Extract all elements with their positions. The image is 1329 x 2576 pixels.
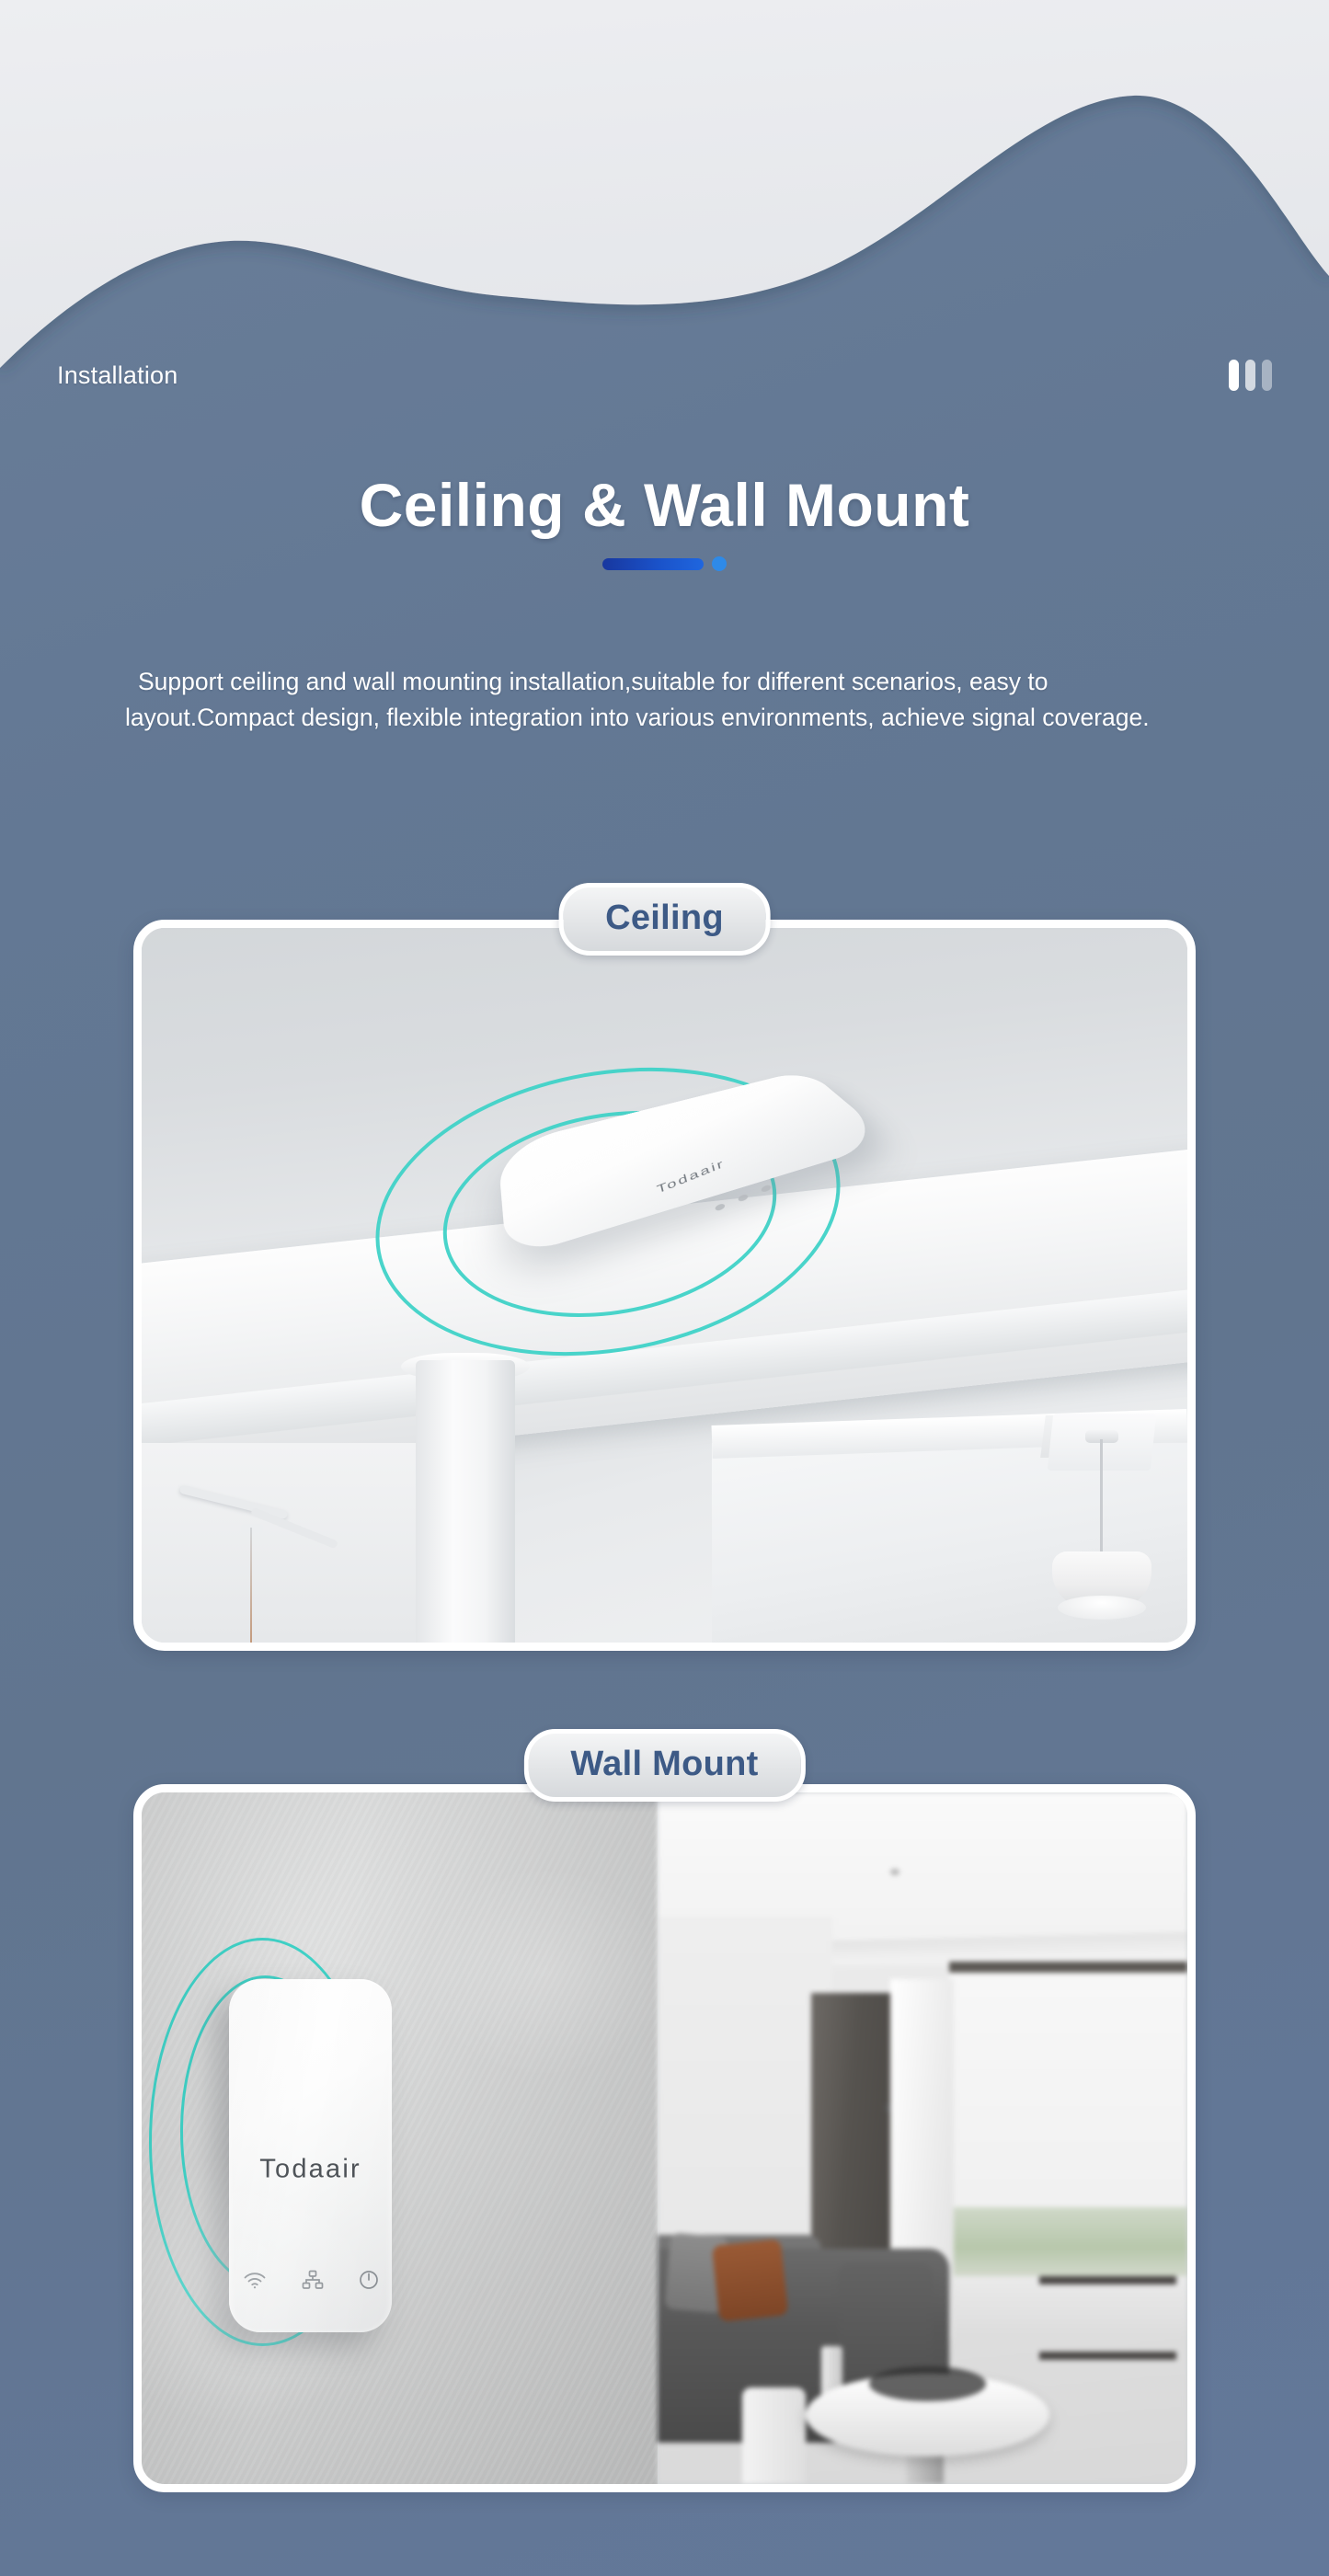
title-divider (597, 557, 733, 570)
device-led-2 (738, 1194, 749, 1203)
divider-dot (712, 556, 727, 571)
badge-ceiling: Ceiling (558, 883, 771, 956)
wall-mount-device-photo: Todaair (142, 1792, 658, 2484)
hero-title-block: Ceiling & Wall Mount (0, 474, 1329, 570)
eyebrow-label: Installation (57, 361, 178, 390)
signal-bar-1 (1229, 360, 1239, 391)
device-led-row (243, 2270, 379, 2290)
ceiling-left-wall (142, 1443, 418, 1643)
intro-paragraph: Support ceiling and wall mounting instal… (125, 664, 1215, 736)
top-wave-divider (0, 0, 1329, 386)
balcony-railing (1039, 2276, 1177, 2359)
badge-wall-mount: Wall Mount (523, 1729, 805, 1802)
page-title: Ceiling & Wall Mount (0, 474, 1329, 537)
ceiling-spotlight (890, 1869, 899, 1875)
signal-bars-icon (1229, 360, 1272, 391)
ceiling-access-point-device: Todaair (485, 1036, 894, 1274)
pendant-lamp-glow (1058, 1596, 1146, 1620)
wifi-icon (243, 2271, 267, 2289)
page-header: Installation (0, 348, 1329, 403)
divider-bar (602, 558, 704, 570)
signal-bar-2 (1245, 360, 1255, 391)
device-top-face (497, 1070, 892, 1260)
left-cord-cap (241, 1524, 263, 1533)
device-led-1 (715, 1203, 726, 1212)
wall-mount-photo-card: Todaair (133, 1784, 1196, 2492)
coffee-table-tray (869, 2366, 986, 2401)
intro-line-3: achieve signal coverage. (881, 704, 1150, 731)
left-hanging-cord (250, 1528, 252, 1651)
ceiling-column (416, 1360, 515, 1651)
intro-line-1: Support ceiling and wall mounting instal… (125, 668, 963, 695)
device-led-3 (761, 1185, 772, 1194)
signal-bar-3 (1262, 360, 1272, 391)
signal-ring-outer-icon (149, 1938, 376, 2346)
device-brand-label: Todaair (259, 2155, 361, 2185)
ceiling-mount-photo: Todaair (142, 928, 1187, 1643)
pendant-cord (1100, 1439, 1103, 1559)
side-stool (742, 2387, 806, 2484)
ceiling-photo-card: Todaair (133, 920, 1196, 1651)
lan-icon (302, 2270, 324, 2290)
signal-ring-inner-icon (180, 1975, 350, 2286)
brown-cushion (712, 2238, 788, 2321)
living-room-scene-photo (658, 1792, 1187, 2484)
wall-access-point-device: Todaair (229, 1979, 392, 2332)
power-icon (359, 2270, 379, 2290)
